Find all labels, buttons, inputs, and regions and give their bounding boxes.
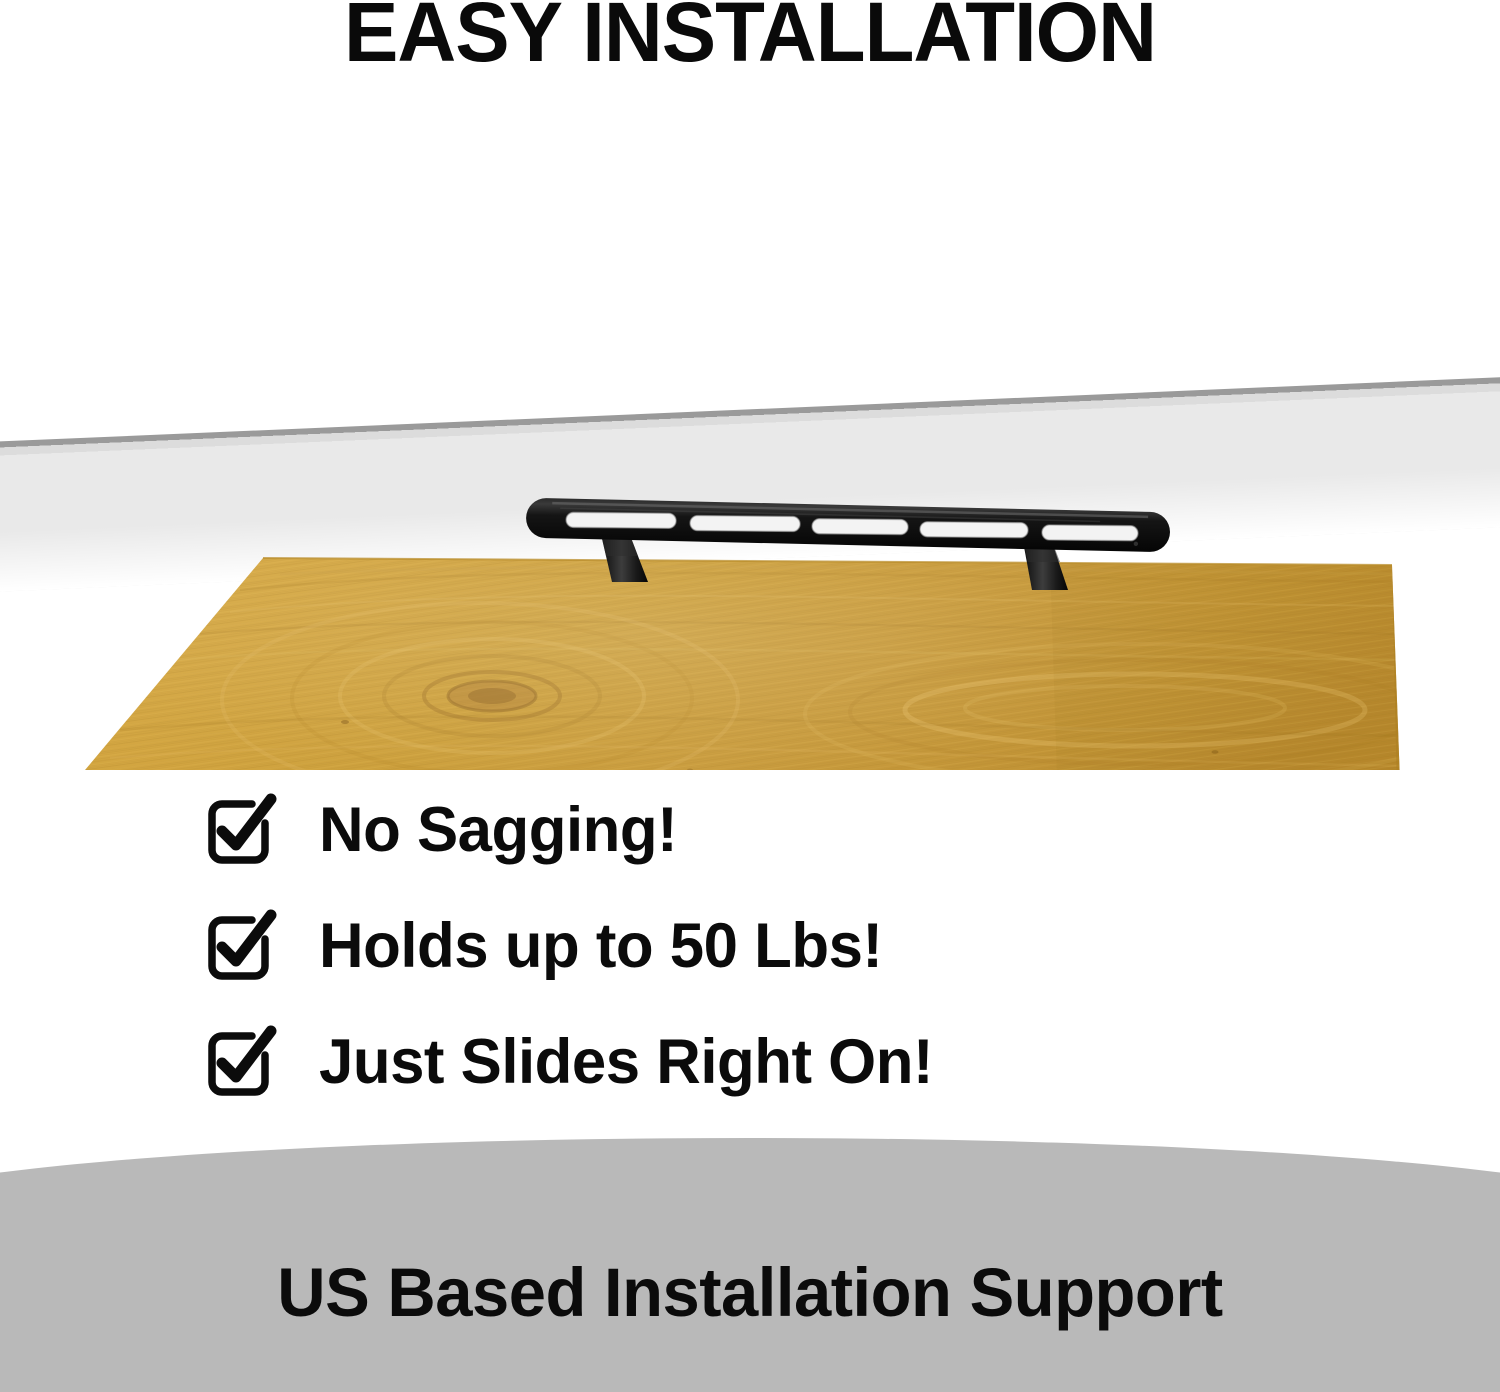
checkbox-checked-icon [205,1025,279,1099]
feature-list: No Sagging! Holds up to 50 Lbs! Just Sli… [205,782,1305,1130]
product-photo [0,230,1500,770]
list-item: Just Slides Right On! [205,1014,1305,1110]
infographic-canvas: EASY INSTALLATION [0,0,1500,1392]
feature-label: Just Slides Right On! [319,1031,933,1094]
page-title: EASY INSTALLATION [23,0,1478,76]
checkbox-checked-icon [205,909,279,983]
feature-label: Holds up to 50 Lbs! [319,915,883,978]
list-item: No Sagging! [205,782,1305,878]
footer-support-text: US Based Installation Support [23,1258,1478,1327]
metal-bracket [0,230,1500,770]
checkbox-checked-icon [205,793,279,867]
feature-label: No Sagging! [319,799,677,862]
list-item: Holds up to 50 Lbs! [205,898,1305,994]
